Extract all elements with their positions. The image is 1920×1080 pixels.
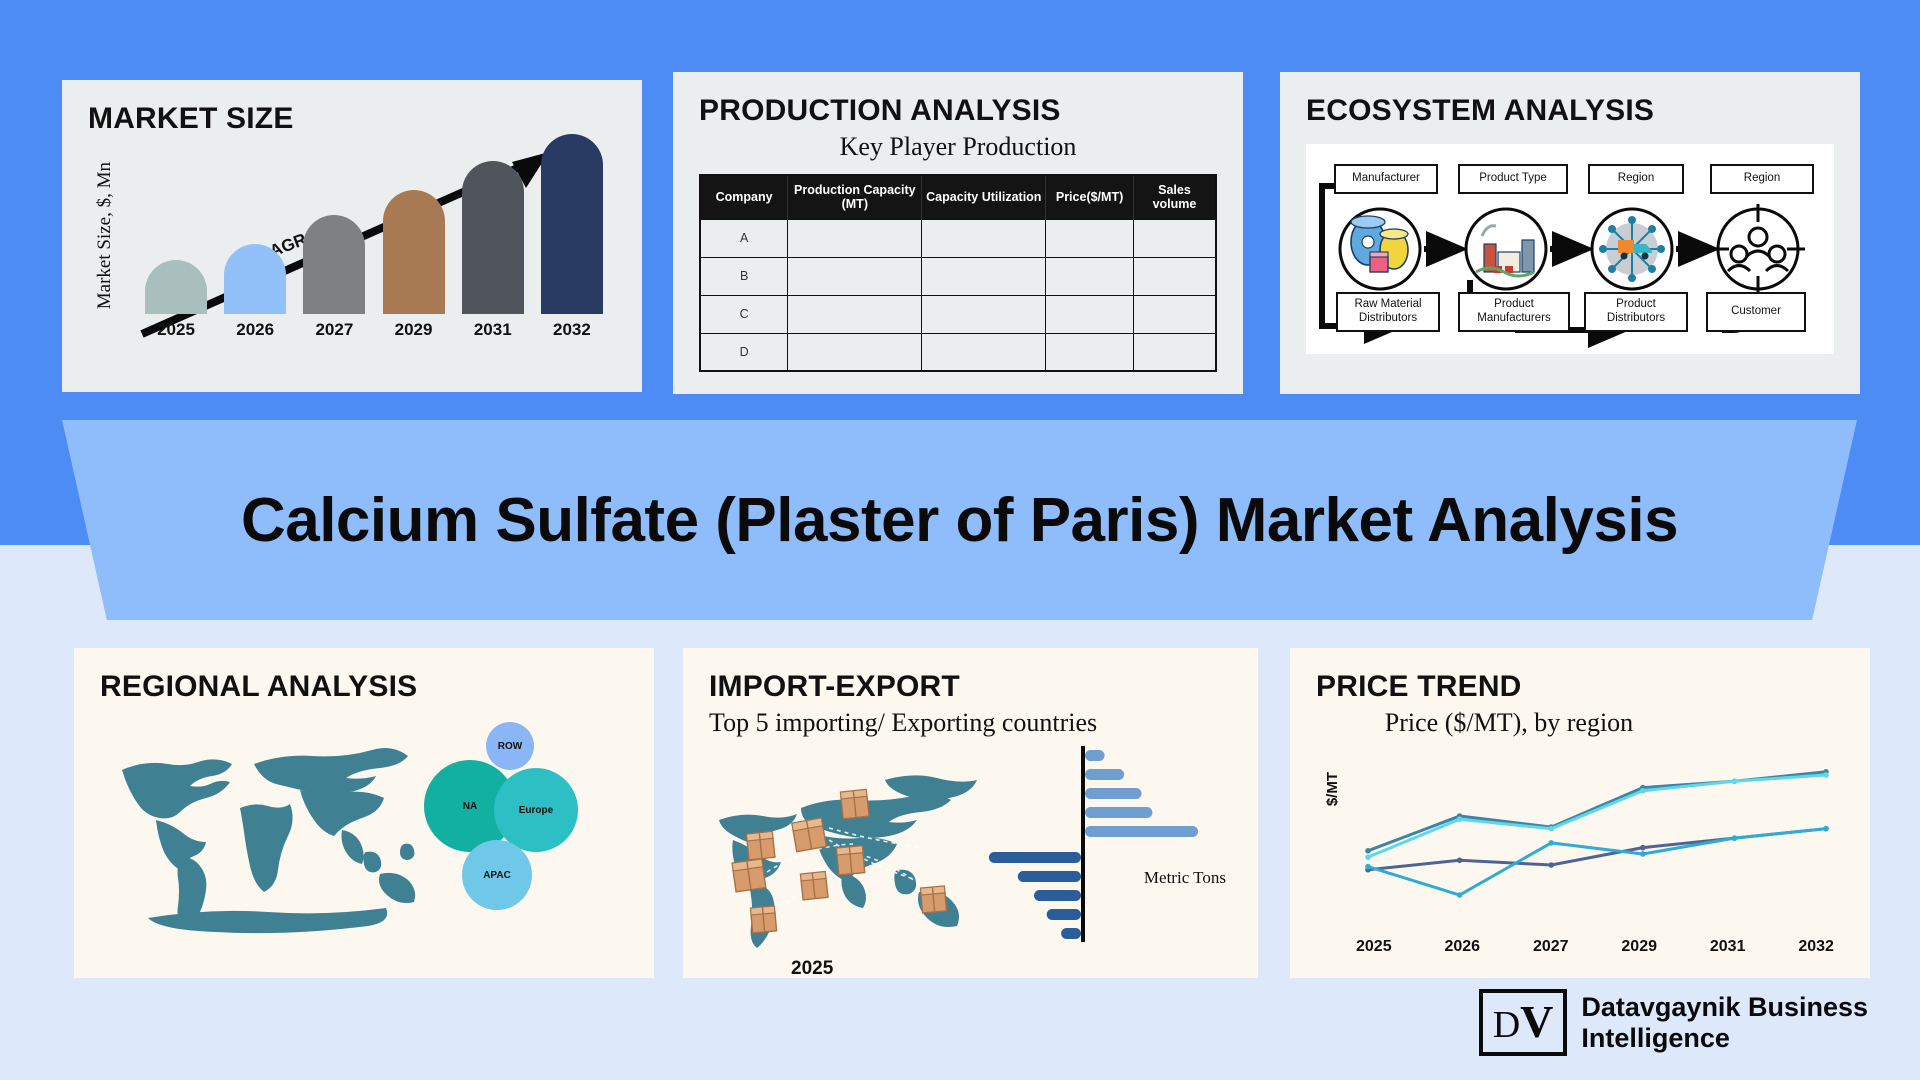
table-cell: [1133, 219, 1216, 257]
table-cell: [788, 257, 922, 295]
metric-tons-label: Metric Tons: [1144, 868, 1226, 888]
table-cell: [1133, 333, 1216, 371]
table-cell: [788, 333, 922, 371]
trade-map-icon: [709, 762, 999, 962]
region-bubble-apac: APAC: [462, 840, 532, 910]
market-size-bar-2026: 2026: [219, 244, 291, 340]
production-analysis-subtitle: Key Player Production: [699, 132, 1217, 162]
price-data-point: [1457, 857, 1463, 863]
price-data-point: [1457, 816, 1463, 822]
ecosystem-bottom-label: Product Manufacturers: [1458, 292, 1570, 332]
logo-wordmark: Datavgaynik Business Intelligence: [1581, 992, 1868, 1052]
price-data-point: [1640, 845, 1646, 851]
table-row: D: [700, 333, 1216, 371]
ecosystem-top-label: Region: [1710, 164, 1814, 194]
price-data-point: [1548, 826, 1554, 832]
export-bar: [1047, 909, 1081, 920]
table-column-header: Company: [700, 175, 788, 219]
region-bubble-row: ROW: [486, 722, 534, 770]
tornado-svg: [978, 744, 1228, 959]
price-trend-year-label: 2032: [1798, 938, 1834, 956]
ecosystem-diagram: ManufacturerProduct TypeRegionRegionRaw …: [1306, 144, 1834, 354]
table-cell: [1133, 257, 1216, 295]
price-trend-y-axis-label: $/MT: [1324, 772, 1341, 806]
price-data-point: [1457, 892, 1463, 898]
import-bar: [1085, 769, 1124, 780]
import-export-tornado-chart: [978, 744, 1228, 959]
price-line-series-2: [1368, 775, 1826, 857]
table-body: ABCD: [700, 219, 1216, 371]
table-cell: [1046, 333, 1134, 371]
bar: [462, 161, 524, 314]
company-logo: D V Datavgaynik Business Intelligence: [1479, 989, 1868, 1056]
regional-bubble-chart: NAEuropeAPACROW: [424, 722, 614, 922]
table-cell: [1046, 219, 1134, 257]
bar-year-label: 2031: [474, 320, 512, 340]
price-trend-lines: [1360, 748, 1840, 924]
world-map-icon: [104, 734, 434, 949]
table-row: A: [700, 219, 1216, 257]
market-size-card: MARKET SIZE Market Size, $, Mn CAGR~15% …: [62, 80, 642, 392]
table-row: B: [700, 257, 1216, 295]
table-cell: C: [700, 295, 788, 333]
export-bar: [1061, 928, 1081, 939]
table-cell: [922, 295, 1046, 333]
table-cell: [1046, 257, 1134, 295]
title-banner: Calcium Sulfate (Plaster of Paris) Marke…: [62, 420, 1857, 620]
export-bar: [1034, 890, 1081, 901]
key-player-production-table: CompanyProduction Capacity (MT)Capacity …: [699, 174, 1217, 372]
logo-mark-icon: D V: [1479, 989, 1568, 1056]
import-export-title: IMPORT-EXPORT: [709, 670, 1232, 704]
price-data-point: [1732, 835, 1738, 841]
price-trend-year-label: 2029: [1621, 938, 1657, 956]
price-trend-year-label: 2031: [1710, 938, 1746, 956]
market-size-bar-2025: 2025: [140, 260, 212, 340]
price-data-point: [1640, 788, 1646, 794]
table-cell: [788, 295, 922, 333]
bar: [541, 134, 603, 314]
ecosystem-bottom-label: Raw Material Distributors: [1336, 292, 1440, 332]
price-trend-year-label: 2027: [1533, 938, 1569, 956]
price-trend-year-label: 2025: [1356, 938, 1392, 956]
bar: [303, 215, 365, 314]
price-data-point: [1823, 772, 1829, 778]
price-trend-card: PRICE TREND Price ($/MT), by region $/MT…: [1290, 648, 1870, 978]
price-data-point: [1365, 854, 1371, 860]
bar-year-label: 2026: [236, 320, 274, 340]
table-cell: [1046, 295, 1134, 333]
table-cell: [922, 219, 1046, 257]
export-bar: [1018, 871, 1081, 882]
table-header-row: CompanyProduction Capacity (MT)Capacity …: [700, 175, 1216, 219]
region-bubble-europe: Europe: [494, 768, 578, 852]
regional-analysis-card: REGIONAL ANALYSIS NAEuropeAPACROW: [74, 648, 654, 978]
price-data-point: [1640, 851, 1646, 857]
bar-year-label: 2032: [553, 320, 591, 340]
import-export-subtitle: Top 5 importing/ Exporting countries: [709, 708, 1232, 738]
table-column-header: Capacity Utilization: [922, 175, 1046, 219]
import-bar: [1085, 826, 1198, 837]
ecosystem-top-label: Product Type: [1458, 164, 1568, 194]
price-data-point: [1365, 848, 1371, 854]
table-column-header: Price($/MT): [1046, 175, 1134, 219]
ecosystem-top-label: Region: [1588, 164, 1684, 194]
ecosystem-bottom-label: Customer: [1706, 292, 1806, 332]
bar: [383, 190, 445, 314]
logo-letter-v: V: [1520, 995, 1553, 1048]
production-analysis-card: PRODUCTION ANALYSIS Key Player Productio…: [673, 72, 1243, 394]
market-size-bar-2029: 2029: [378, 190, 450, 340]
table-cell: B: [700, 257, 788, 295]
price-data-point: [1548, 862, 1554, 868]
market-size-bar-2032: 2032: [536, 134, 608, 340]
price-trend-chart: $/MT 202520262027202920312032: [1316, 740, 1844, 958]
table-cell: [788, 219, 922, 257]
table-row: C: [700, 295, 1216, 333]
market-size-bar-group: 202520262027202920312032: [140, 142, 608, 340]
import-export-year-label: 2025: [791, 958, 833, 980]
price-data-point: [1548, 840, 1554, 846]
regional-analysis-body: NAEuropeAPACROW: [100, 712, 628, 962]
import-bar: [1085, 807, 1152, 818]
table-cell: [1133, 295, 1216, 333]
bar: [145, 260, 207, 314]
table-cell: [922, 333, 1046, 371]
logo-line-2: Intelligence: [1581, 1023, 1868, 1053]
table-cell: [922, 257, 1046, 295]
market-size-y-axis-label: Market Size, $, Mn: [94, 162, 116, 309]
bar: [224, 244, 286, 314]
ecosystem-bottom-label: Product Distributors: [1584, 292, 1688, 332]
import-export-card: IMPORT-EXPORT Top 5 importing/ Exporting…: [683, 648, 1258, 978]
ecosystem-analysis-title: ECOSYSTEM ANALYSIS: [1306, 94, 1834, 128]
price-data-point: [1823, 826, 1829, 832]
regional-analysis-title: REGIONAL ANALYSIS: [100, 670, 628, 704]
import-bar: [1085, 788, 1142, 799]
import-export-body: Metric Tons 2025: [709, 744, 1232, 976]
bar-year-label: 2025: [157, 320, 195, 340]
table-cell: A: [700, 219, 788, 257]
price-data-point: [1365, 864, 1371, 870]
table-column-header: Sales volume: [1133, 175, 1216, 219]
market-size-title: MARKET SIZE: [88, 102, 616, 136]
ecosystem-top-label: Manufacturer: [1334, 164, 1438, 194]
table-column-header: Production Capacity (MT): [788, 175, 922, 219]
ecosystem-analysis-card: ECOSYSTEM ANALYSIS: [1280, 72, 1860, 394]
bar-year-label: 2029: [395, 320, 433, 340]
market-size-bar-2031: 2031: [457, 161, 529, 340]
table-cell: D: [700, 333, 788, 371]
market-size-chart: Market Size, $, Mn CAGR~15% 202520262027…: [88, 142, 616, 370]
market-size-bar-2027: 2027: [298, 215, 370, 340]
page-title: Calcium Sulfate (Plaster of Paris) Marke…: [241, 485, 1678, 556]
price-trend-title: PRICE TREND: [1316, 670, 1844, 704]
import-bar: [1085, 750, 1105, 761]
export-bar: [989, 852, 1081, 863]
logo-line-1: Datavgaynik Business: [1581, 992, 1868, 1022]
price-trend-subtitle: Price ($/MT), by region: [1344, 708, 1674, 738]
price-data-point: [1732, 778, 1738, 784]
price-trend-x-axis: 202520262027202920312032: [1356, 938, 1834, 956]
price-trend-year-label: 2026: [1444, 938, 1480, 956]
production-analysis-title: PRODUCTION ANALYSIS: [699, 94, 1217, 128]
bar-year-label: 2027: [315, 320, 353, 340]
logo-letter-d: D: [1493, 1003, 1520, 1047]
